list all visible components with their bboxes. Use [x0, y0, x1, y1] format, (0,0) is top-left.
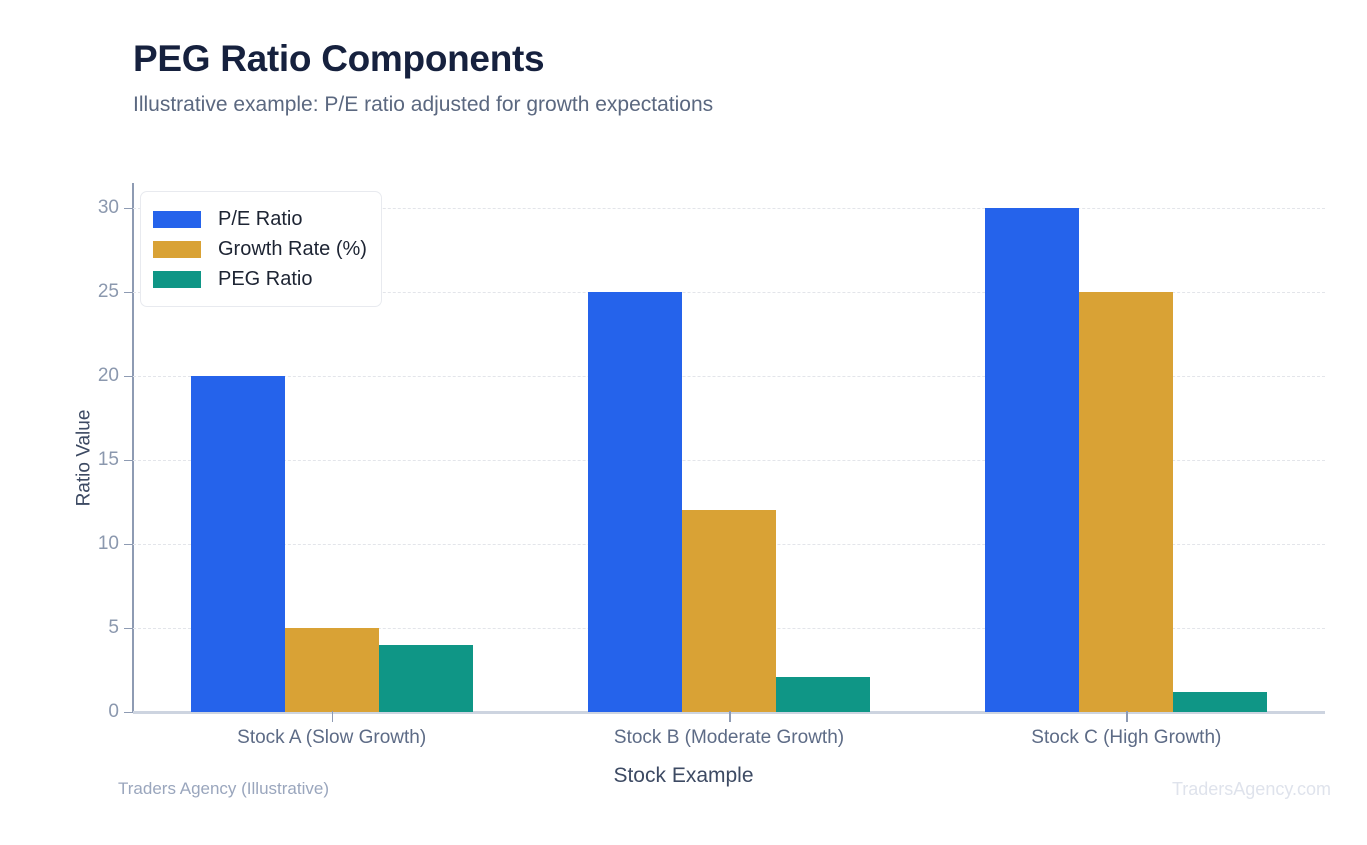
y-tick-mark	[124, 292, 133, 293]
legend-label: PEG Ratio	[218, 268, 312, 291]
x-tick-label: Stock C (High Growth)	[1031, 727, 1221, 749]
y-tick-label: 20	[98, 365, 119, 387]
y-tick-mark	[124, 208, 133, 209]
legend-swatch-icon	[153, 211, 201, 228]
y-tick-label: 10	[98, 533, 119, 555]
bar	[682, 510, 776, 712]
y-tick-label: 5	[108, 617, 119, 639]
y-tick-label: 30	[98, 197, 119, 219]
legend-item[interactable]: Growth Rate (%)	[153, 234, 367, 264]
footer-watermark: TradersAgency.com	[1172, 779, 1331, 800]
legend-swatch-icon	[153, 241, 201, 258]
y-tick-mark	[124, 712, 133, 713]
y-tick-label: 15	[98, 449, 119, 471]
y-tick-mark	[124, 376, 133, 377]
chart-container: PEG Ratio Components Illustrative exampl…	[0, 0, 1367, 845]
legend-swatch-icon	[153, 271, 201, 288]
y-tick-label: 0	[108, 701, 119, 723]
chart-subtitle: Illustrative example: P/E ratio adjusted…	[133, 93, 713, 117]
bar	[1079, 292, 1173, 712]
chart-legend: P/E RatioGrowth Rate (%)PEG Ratio	[140, 191, 382, 307]
bar	[776, 677, 870, 712]
legend-item[interactable]: PEG Ratio	[153, 264, 367, 294]
x-tick-label: Stock A (Slow Growth)	[237, 727, 426, 749]
x-tick-mark	[1126, 711, 1128, 722]
y-tick-mark	[124, 628, 133, 629]
chart-title: PEG Ratio Components	[133, 38, 544, 80]
y-tick-mark	[124, 544, 133, 545]
x-tick-mark	[729, 711, 731, 722]
y-tick-label: 25	[98, 281, 119, 303]
y-tick-mark	[124, 460, 133, 461]
bar	[588, 292, 682, 712]
bar	[985, 208, 1079, 712]
x-tick-mark	[332, 711, 334, 722]
bar	[285, 628, 379, 712]
bar	[191, 376, 285, 712]
legend-label: P/E Ratio	[218, 208, 302, 231]
footer-attribution: Traders Agency (Illustrative)	[118, 779, 329, 799]
bar	[1173, 692, 1267, 712]
legend-label: Growth Rate (%)	[218, 238, 367, 261]
legend-item[interactable]: P/E Ratio	[153, 204, 367, 234]
y-axis-title: Ratio Value	[73, 410, 95, 507]
x-tick-label: Stock B (Moderate Growth)	[614, 727, 844, 749]
bar	[379, 645, 473, 712]
